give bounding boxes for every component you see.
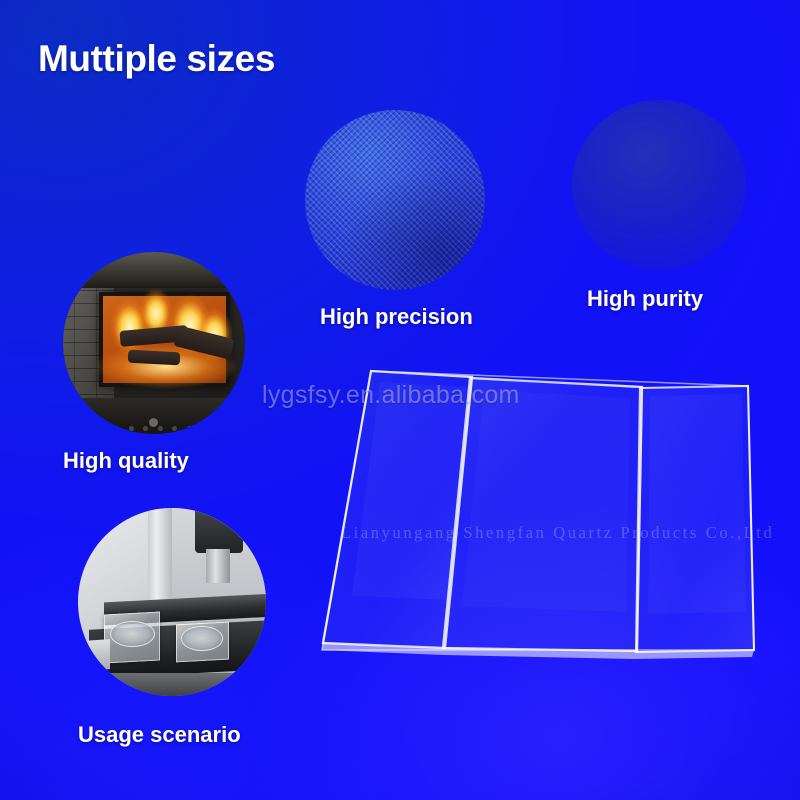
stove-top [63,252,245,288]
sample-lens [181,626,222,650]
instrument-head-stem [206,549,230,583]
lab-instrument-icon [78,508,266,696]
feature-caption-high-quality: High quality [63,448,189,474]
page-title: Muttiple sizes [38,38,275,80]
stove-base [63,398,245,434]
purity-background [572,100,746,270]
product-banner: Muttiple sizes [0,0,800,800]
stove-knob [201,426,206,431]
stove-knob [143,426,148,431]
feature-caption-high-precision: High precision [320,304,473,330]
feature-caption-usage-scenario: Usage scenario [78,722,241,748]
fireplace-icon [63,252,245,434]
watermark-company: Lianyungang Shengfan Quartz Products Co.… [341,523,774,543]
feature-caption-high-purity: High purity [587,286,703,312]
sample-lens [110,621,155,647]
stove-knob [172,426,177,431]
stove-handle [149,418,158,427]
stove-knob [114,426,119,431]
instrument-head [195,508,244,553]
stove-glass-door [99,292,230,387]
lab-floor [78,673,266,696]
instrument-column [148,508,172,606]
watermark-domain: lygsfsy.en.alibaba.com [262,381,520,410]
stove-knob [129,426,134,431]
sample-bracket [84,639,110,671]
stove-knob [158,426,163,431]
stove-knob [187,426,192,431]
log [128,349,181,365]
mesh-shade [305,110,485,290]
quartz-plates-icon [572,100,746,270]
quartz-tube-icon [305,110,485,290]
